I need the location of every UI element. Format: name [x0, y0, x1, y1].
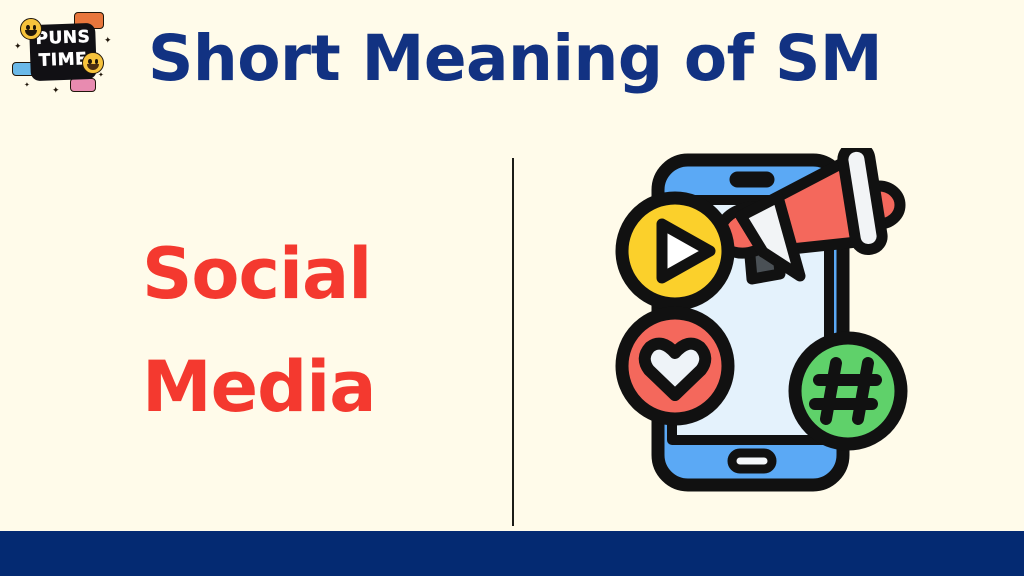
sparkle-icon: ✦: [24, 82, 30, 89]
slide-canvas: PUNS TIME ✦ ✦ ✦ ✦ ✦ Short Meaning of SM …: [0, 0, 1024, 576]
term-line-media: Media: [142, 331, 482, 444]
play-icon: [622, 198, 728, 304]
emoji-mouth: [25, 30, 37, 36]
brand-logo[interactable]: PUNS TIME ✦ ✦ ✦ ✦ ✦: [8, 6, 116, 98]
emoji-mouth: [87, 64, 99, 70]
vertical-divider: [512, 158, 514, 526]
footer-bar: [0, 531, 1024, 576]
laughing-emoji-icon: [82, 52, 104, 74]
hashtag-icon: [795, 338, 901, 444]
heart-icon: [622, 313, 728, 419]
smiley-emoji-icon: [20, 18, 42, 40]
page-title: Short Meaning of SM: [148, 22, 978, 96]
sparkle-icon: ✦: [98, 72, 104, 79]
social-media-phone-illustration: [600, 148, 930, 498]
sparkle-icon: ✦: [104, 36, 112, 45]
term-block: Social Media: [142, 218, 482, 445]
sparkle-icon: ✦: [14, 42, 22, 51]
term-line-social: Social: [142, 218, 482, 331]
sparkle-icon: ✦: [52, 86, 60, 95]
speech-bubble-pink-icon: [70, 78, 96, 92]
